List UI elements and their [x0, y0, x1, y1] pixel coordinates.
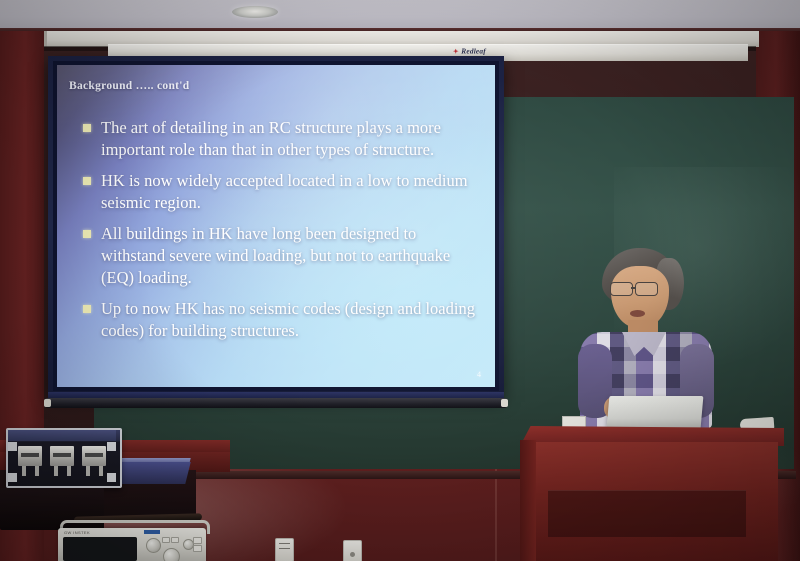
- presentation-slide: Background ….. cont'd The art of detaili…: [57, 65, 495, 387]
- bullet-square-icon: [83, 177, 91, 185]
- ceiling: [0, 0, 800, 30]
- blue-equipment-box: [115, 462, 190, 484]
- outlet-port-icon: [350, 552, 355, 557]
- lecture-hall-photo: Redleaf Background ….. cont'd The art of…: [0, 0, 800, 561]
- oscilloscope-accent-stripe: [144, 530, 160, 534]
- projector-brand: Redleaf: [453, 47, 486, 55]
- rack-module: [50, 446, 74, 466]
- rack-module-leg: [22, 466, 26, 476]
- screen-roller-bar: [44, 398, 508, 408]
- rack-module: [82, 446, 106, 466]
- rack-module-leg: [99, 466, 103, 476]
- oscilloscope-button[interactable]: [193, 545, 202, 552]
- red-leaf-icon: [453, 48, 459, 54]
- oscilloscope-brand-label: GW INSTEK: [64, 530, 90, 535]
- rack-module-leg: [35, 466, 39, 476]
- podium-recessed-panel: [548, 490, 746, 537]
- glasses-lens-right-icon: [635, 282, 658, 296]
- rack-module: [18, 446, 42, 466]
- podium: [520, 426, 784, 561]
- rack-corner-bracket: [107, 442, 116, 451]
- list-item: The art of detailing in an RC structure …: [83, 117, 475, 161]
- slide-title: Background ….. cont'd: [69, 80, 189, 92]
- slide-bullet-list: The art of detailing in an RC structure …: [83, 117, 475, 350]
- bullet-text: The art of detailing in an RC structure …: [101, 117, 475, 161]
- presenter-face: [611, 266, 669, 328]
- glasses-bridge-icon: [631, 287, 636, 289]
- wall-outlet[interactable]: [343, 540, 362, 561]
- oscilloscope-button[interactable]: [171, 537, 179, 543]
- list-item: All buildings in HK have long been desig…: [83, 223, 475, 289]
- oscilloscope: GW INSTEK: [58, 528, 206, 561]
- podium-side-edge: [520, 440, 536, 561]
- oscilloscope-button[interactable]: [162, 537, 170, 543]
- oscilloscope-knob[interactable]: [163, 548, 180, 561]
- rack-module-leg: [86, 466, 90, 476]
- oscilloscope-knob[interactable]: [146, 538, 161, 553]
- oscilloscope-display: [63, 537, 137, 561]
- ceiling-downlight-icon: [232, 6, 278, 18]
- oscilloscope-button[interactable]: [193, 537, 202, 544]
- projector-brand-label: Redleaf: [461, 47, 486, 55]
- wall-outlet[interactable]: [275, 538, 294, 561]
- bullet-square-icon: [83, 230, 91, 238]
- glasses-lens-left-icon: [610, 282, 633, 296]
- rack-case-lid: [8, 430, 116, 441]
- bullet-square-icon: [83, 124, 91, 132]
- rack-module-leg: [67, 466, 71, 476]
- slide-page-number: 4: [477, 370, 481, 379]
- rack-corner-bracket: [8, 442, 17, 451]
- bullet-text: HK is now widely accepted located in a l…: [101, 170, 475, 214]
- bullet-text: All buildings in HK have long been desig…: [101, 223, 475, 289]
- roller-end-cap: [44, 399, 51, 407]
- roller-end-cap: [501, 399, 508, 407]
- outlet-slots-icon: [279, 543, 290, 549]
- laptop[interactable]: [607, 396, 704, 428]
- projection-screen-surface: Background ….. cont'd The art of detaili…: [53, 61, 499, 391]
- presenter-mouth: [630, 310, 645, 317]
- projection-screen: Background ….. cont'd The art of detaili…: [48, 56, 504, 396]
- bullet-square-icon: [83, 305, 91, 313]
- rack-corner-bracket: [8, 473, 17, 482]
- list-item: Up to now HK has no seismic codes (desig…: [83, 298, 475, 342]
- instrument-rack-case: [6, 428, 122, 488]
- rack-module-leg: [54, 466, 58, 476]
- list-item: HK is now widely accepted located in a l…: [83, 170, 475, 214]
- rack-corner-bracket: [107, 473, 116, 482]
- bullet-text: Up to now HK has no seismic codes (desig…: [101, 298, 475, 342]
